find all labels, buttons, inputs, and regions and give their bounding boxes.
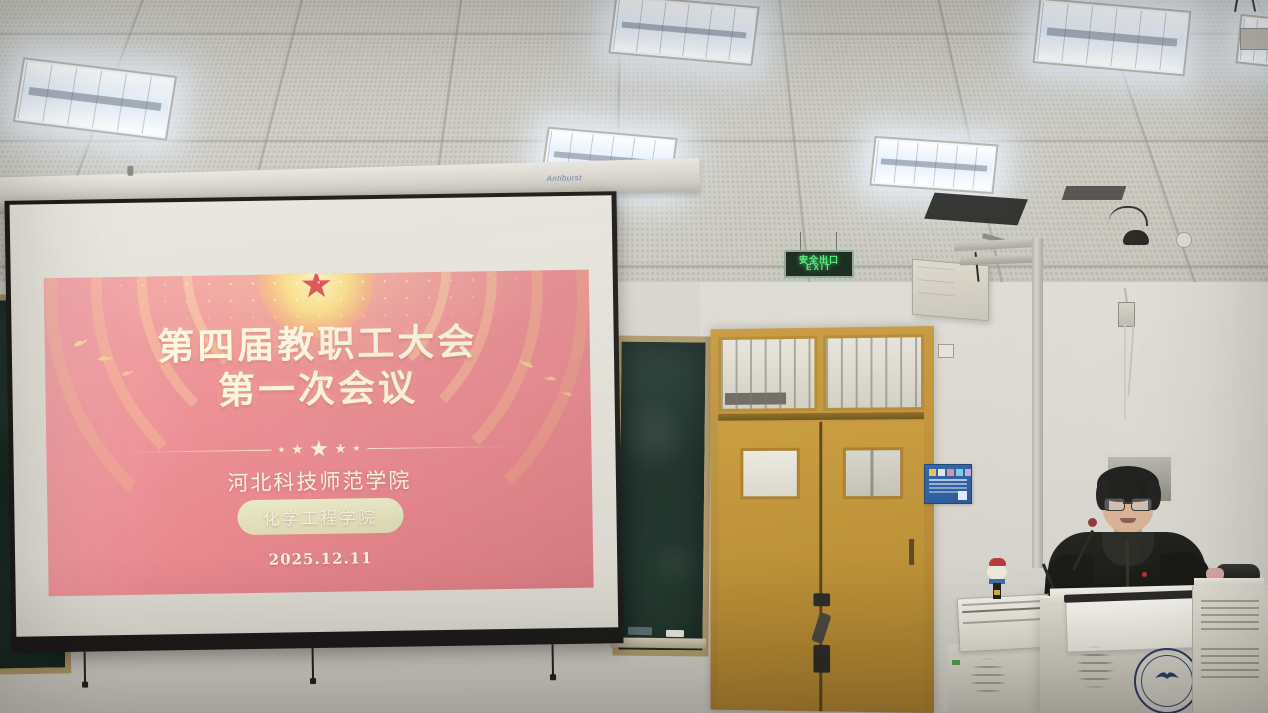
- person-lapel-badge: [1142, 572, 1147, 577]
- transom-pane-right: [823, 334, 924, 411]
- roller-mount-bracket: [127, 166, 133, 176]
- divider-star-4: [335, 443, 346, 454]
- blue-sign-qr-code: [958, 491, 967, 500]
- door-hinge: [909, 539, 914, 565]
- seal-bird-icon: [1154, 668, 1180, 681]
- university-seal-emblem: [1134, 648, 1200, 713]
- door-sensor: [938, 344, 954, 358]
- door-leaf-right[interactable]: [820, 421, 924, 713]
- figurine-marker: [994, 590, 1000, 595]
- slide-title: 第四届教职工大会 第一次会议: [44, 318, 590, 417]
- divider-line-right: [367, 445, 517, 448]
- divider-star-3: [310, 440, 328, 458]
- desk-figurine: [985, 558, 1009, 602]
- ceiling-light-panel-5: [1033, 0, 1192, 76]
- cabinet-vent-upper: [1201, 600, 1259, 634]
- presentation-slide: 第四届教职工大会 第一次会议 河北科技师范学院 化学工程学院 2025.12.1…: [44, 270, 594, 597]
- blue-information-sign: [924, 464, 972, 504]
- figurine-body: [987, 564, 1007, 580]
- ceiling-opening-secondary: [1062, 186, 1127, 200]
- podium-power-led: [952, 660, 960, 665]
- dome-camera-icon: [1123, 230, 1149, 245]
- person-mouth: [1120, 518, 1136, 523]
- microphone-head-icon: [1088, 518, 1097, 527]
- podium-speaker-grille-left: [1076, 646, 1114, 690]
- roller-brand-label: Antiburst: [546, 173, 581, 183]
- divider-star-2: [292, 444, 303, 455]
- chalk-eraser-block: [628, 627, 652, 635]
- junction-wire-1: [1124, 324, 1126, 420]
- slide-title-line-1: 第四届教职工大会: [157, 319, 478, 368]
- right-cabinet: [1192, 586, 1268, 713]
- door-window-right: [843, 447, 903, 499]
- projection-screen: 第四届教职工大会 第一次会议 河北科技师范学院 化学工程学院 2025.12.1…: [4, 191, 623, 653]
- classroom-photo-scene: Antiburst: [0, 0, 1268, 713]
- divider-line-left: [121, 449, 271, 452]
- conduit-vertical: [1032, 238, 1043, 568]
- glasses-lens-right: [1131, 498, 1152, 511]
- glasses-lens-left: [1104, 498, 1125, 511]
- podium-side-cabinet: [948, 644, 1053, 713]
- blue-sign-text-lines: [929, 479, 967, 481]
- cabinet-vent-lower: [1201, 648, 1259, 682]
- chalkboard-right: [612, 336, 711, 657]
- divider-star-1: [278, 446, 285, 453]
- ceiling-sensor-ball: [1176, 232, 1192, 248]
- figurine-hat: [989, 558, 1006, 566]
- door-lock[interactable]: [813, 645, 830, 673]
- chalk-tray: [610, 637, 706, 648]
- podium-side-vent: [970, 658, 1006, 698]
- slide-department-badge: 化学工程学院: [237, 498, 404, 536]
- glasses-icon: [1104, 498, 1152, 509]
- blue-sign-icons: [929, 469, 972, 476]
- door-transom: [718, 334, 924, 412]
- exit-sign: 安全出口 EXIT: [784, 250, 854, 278]
- exit-sign-rod-left: [800, 232, 801, 252]
- wall-junction-small: [1240, 28, 1268, 50]
- door-leaf-left[interactable]: [718, 422, 820, 711]
- eraser: [666, 630, 684, 637]
- transom-pane-left: [718, 336, 817, 412]
- door-latch-plate[interactable]: [813, 593, 830, 606]
- exit-sign-rod-right: [836, 232, 837, 252]
- double-door[interactable]: [711, 326, 934, 713]
- door-window-left: [741, 448, 800, 500]
- transom-object: [725, 392, 786, 404]
- exit-sign-english: EXIT: [786, 263, 852, 272]
- slide-title-line-2: 第一次会议: [45, 363, 591, 417]
- ceiling-light-panel-4: [869, 136, 998, 194]
- junction-box: [1118, 302, 1135, 327]
- speaker-nameplate: [957, 594, 1052, 653]
- divider-star-5: [353, 445, 360, 452]
